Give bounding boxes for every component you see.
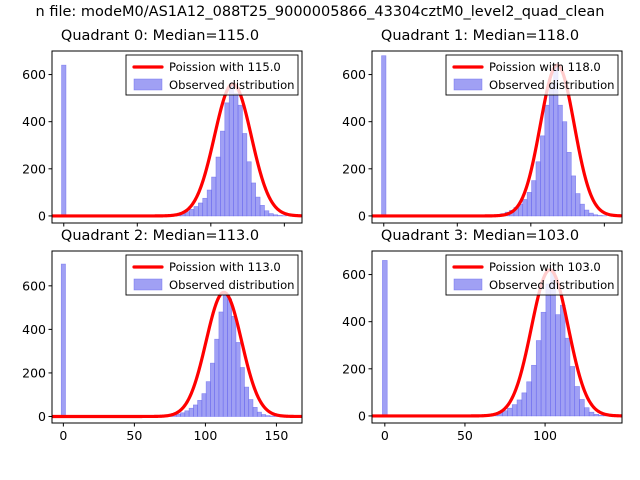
- y-tick-label: 200: [22, 365, 46, 380]
- y-tick-label: 200: [342, 361, 366, 376]
- legend-patch-swatch: [134, 279, 162, 290]
- x-tick-label: 100: [193, 428, 217, 443]
- legend-label: Poission with 103.0: [489, 260, 601, 274]
- subplot-quadrant-2: Quadrant 2: Median=113.0 050100150020040…: [0, 228, 320, 443]
- legend-label: Poission with 113.0: [169, 260, 281, 274]
- x-tick-label: 0: [59, 428, 67, 443]
- y-tick-label: 0: [38, 208, 46, 223]
- poisson-curve-quadrant-2: [52, 292, 302, 416]
- subplot-title-quadrant-2: Quadrant 2: Median=113.0: [0, 228, 320, 244]
- x-tick-label: 50: [126, 428, 142, 443]
- legend-quadrant-0[interactable]: Poission with 115.0Observed distribution: [126, 55, 298, 95]
- subplot-quadrant-0: Quadrant 0: Median=115.0 050100150020040…: [0, 28, 320, 228]
- y-tick-label: 400: [342, 314, 366, 329]
- y-tick-label: 400: [342, 114, 366, 129]
- y-tick-label: 400: [22, 114, 46, 129]
- legend-label: Observed distribution: [489, 78, 615, 92]
- figure-suptitle: n file: modeM0/AS1A12_088T25_9000005866_…: [0, 4, 640, 20]
- subplot-title-quadrant-0: Quadrant 0: Median=115.0: [0, 28, 320, 44]
- legend-quadrant-3[interactable]: Poission with 103.0Observed distribution: [446, 255, 618, 295]
- subplot-title-quadrant-1: Quadrant 1: Median=118.0: [320, 28, 640, 44]
- y-tick-label: 0: [358, 408, 366, 423]
- x-tick-label: 0: [381, 428, 389, 443]
- legend-patch-swatch: [454, 79, 482, 90]
- x-tick-label: 100: [533, 428, 557, 443]
- y-tick-label: 0: [358, 208, 366, 223]
- legend-quadrant-2[interactable]: Poission with 113.0Observed distribution: [126, 255, 298, 295]
- y-tick-label: 600: [342, 267, 366, 282]
- x-tick-label: 50: [457, 428, 473, 443]
- y-tick-label: 200: [342, 161, 366, 176]
- subplot-quadrant-3: Quadrant 3: Median=103.0 050100020040060…: [320, 228, 640, 443]
- subplot-title-quadrant-3: Quadrant 3: Median=103.0: [320, 228, 640, 244]
- plot-area-quadrant-0: 0501001500200400600Poission with 115.0Ob…: [0, 28, 320, 228]
- legend-label: Poission with 115.0: [169, 60, 281, 74]
- plot-area-quadrant-3: 0501000200400600Poission with 103.0Obser…: [320, 228, 640, 443]
- matplotlib-figure: n file: modeM0/AS1A12_088T25_9000005866_…: [0, 0, 640, 480]
- legend-patch-swatch: [454, 279, 482, 290]
- legend-label: Observed distribution: [169, 278, 295, 292]
- plot-area-quadrant-2: 0501001500200400600Poission with 113.0Ob…: [0, 228, 320, 443]
- legend-label: Observed distribution: [489, 278, 615, 292]
- plot-area-quadrant-1: 0501001500200400600Poission with 118.0Ob…: [320, 28, 640, 228]
- subplot-quadrant-1: Quadrant 1: Median=118.0 050100150020040…: [320, 28, 640, 228]
- y-tick-label: 200: [22, 161, 46, 176]
- legend-quadrant-1[interactable]: Poission with 118.0Observed distribution: [446, 55, 618, 95]
- y-tick-label: 600: [22, 67, 46, 82]
- x-tick-label: 150: [265, 428, 289, 443]
- y-tick-label: 600: [22, 278, 46, 293]
- legend-patch-swatch: [134, 79, 162, 90]
- legend-label: Poission with 118.0: [489, 60, 601, 74]
- legend-label: Observed distribution: [169, 78, 295, 92]
- y-tick-label: 600: [342, 67, 366, 82]
- y-tick-label: 400: [22, 322, 46, 337]
- y-tick-label: 0: [38, 409, 46, 424]
- poisson-curve-quadrant-0: [52, 84, 302, 216]
